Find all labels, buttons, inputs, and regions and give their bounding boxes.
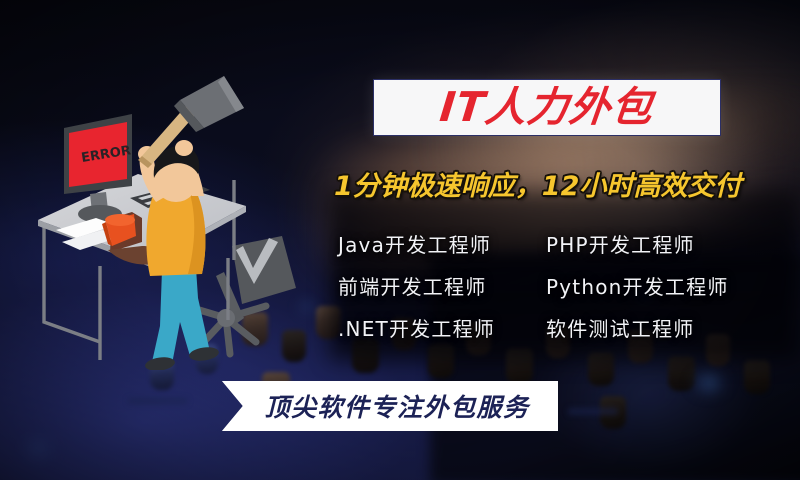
- service-item: 前端开发工程师: [338, 266, 546, 308]
- service-item: PHP开发工程师: [546, 224, 778, 266]
- service-list: Java开发工程师 PHP开发工程师 前端开发工程师 Python开发工程师 .…: [338, 224, 778, 350]
- service-item: 软件测试工程师: [546, 308, 778, 350]
- service-item: Python开发工程师: [546, 266, 778, 308]
- developer-illustration: ERROR: [20, 70, 320, 370]
- title-banner: IT人力外包: [373, 79, 721, 136]
- service-item: .NET开发工程师: [338, 308, 546, 350]
- bottom-ribbon-banner: 顶尖软件专注外包服务: [222, 381, 558, 431]
- subtitle-tagline: 1分钟极速响应，12小时高效交付: [334, 170, 794, 204]
- ribbon-label: 顶尖软件专注外包服务: [250, 388, 529, 424]
- service-item: Java开发工程师: [338, 224, 546, 266]
- poster-canvas: ERROR: [0, 0, 800, 480]
- page-title: IT人力外包: [438, 87, 656, 128]
